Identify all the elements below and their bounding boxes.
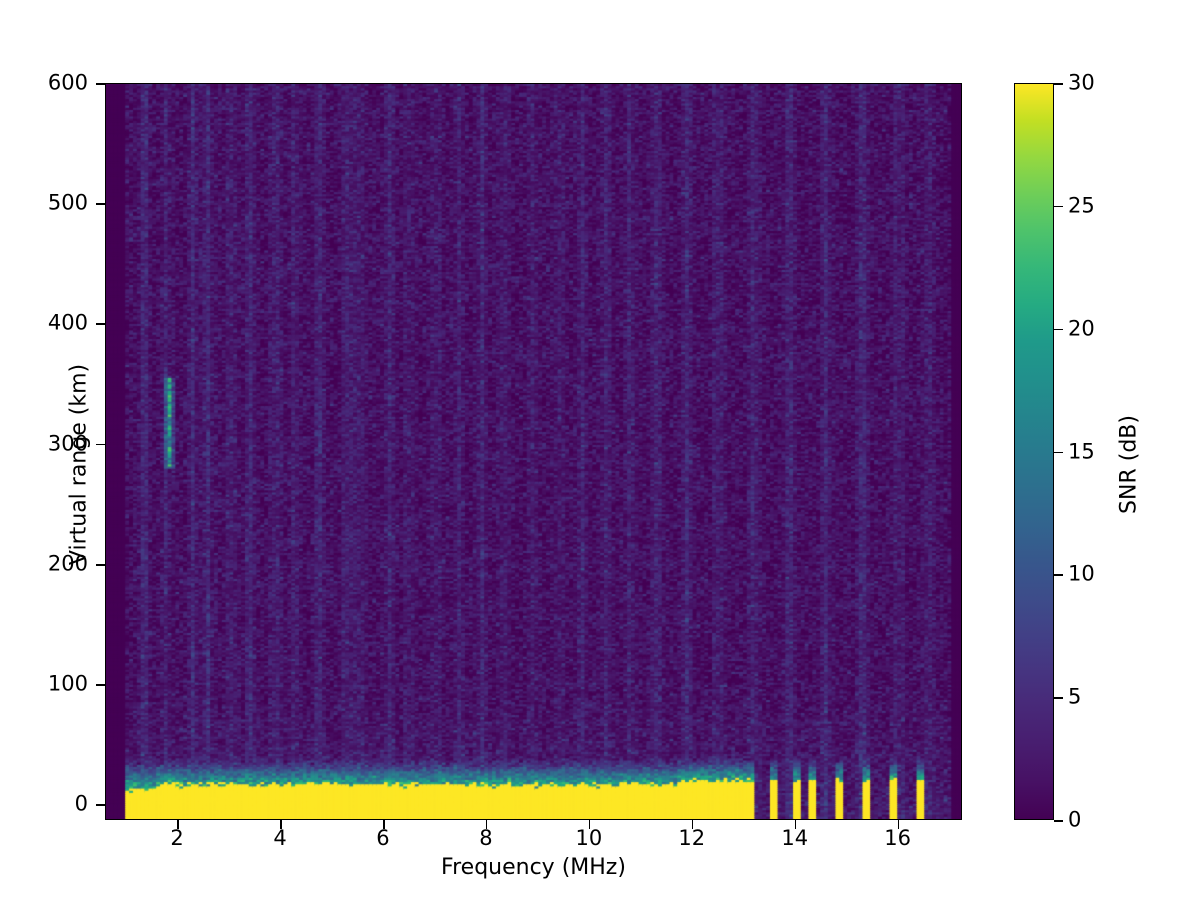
plot-area <box>105 83 962 820</box>
colorbar-tick-mark <box>1054 820 1063 822</box>
y-tick-label: 300 <box>48 433 88 454</box>
colorbar-tick-mark <box>1054 452 1063 454</box>
x-tick-label: 2 <box>170 828 183 849</box>
colorbar-tick-mark <box>1054 329 1063 331</box>
y-tick-label: 500 <box>48 193 88 214</box>
colorbar-tick-label: 5 <box>1068 687 1081 708</box>
colorbar-tick-label: 30 <box>1068 73 1095 94</box>
colorbar-tick-mark <box>1054 697 1063 699</box>
x-tick-label: 16 <box>884 828 911 849</box>
y-tick-mark <box>96 444 105 446</box>
colorbar-tick-mark <box>1054 206 1063 208</box>
colorbar-tick-label: 0 <box>1068 810 1081 831</box>
ionogram-heatmap <box>106 84 962 820</box>
x-tick-label: 14 <box>781 828 808 849</box>
ionogram-figure: IRF Uppsala SDR Ionosonde UP158 2026-01-… <box>0 0 1200 900</box>
colorbar-tick-label: 15 <box>1068 441 1095 462</box>
y-tick-mark <box>96 203 105 205</box>
colorbar-tick-label: 25 <box>1068 195 1095 216</box>
y-tick-mark <box>96 83 105 85</box>
colorbar <box>1014 83 1054 820</box>
x-tick-label: 4 <box>273 828 286 849</box>
y-tick-label: 600 <box>48 73 88 94</box>
y-tick-mark <box>96 564 105 566</box>
y-tick-mark <box>96 804 105 806</box>
y-tick-label: 0 <box>75 794 88 815</box>
y-tick-mark <box>96 684 105 686</box>
colorbar-label: SNR (dB) <box>1117 255 1142 675</box>
y-tick-mark <box>96 323 105 325</box>
y-tick-label: 400 <box>48 313 88 334</box>
colorbar-tick-label: 20 <box>1068 318 1095 339</box>
colorbar-tick-mark <box>1054 83 1063 85</box>
y-tick-label: 200 <box>48 553 88 574</box>
x-tick-label: 12 <box>678 828 705 849</box>
colorbar-tick-label: 10 <box>1068 564 1095 585</box>
y-tick-label: 100 <box>48 674 88 695</box>
colorbar-tick-mark <box>1054 574 1063 576</box>
x-tick-label: 10 <box>575 828 602 849</box>
x-tick-label: 8 <box>479 828 492 849</box>
x-tick-label: 6 <box>376 828 389 849</box>
x-axis-label: Frequency (MHz) <box>105 855 962 880</box>
